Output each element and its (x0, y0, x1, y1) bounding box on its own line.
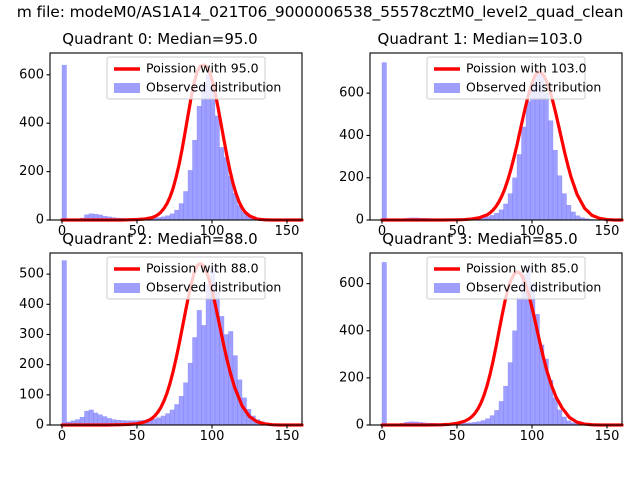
legend-label: Poission with 103.0 (466, 61, 587, 76)
subplot-quadrant-2: Quadrant 2: Median=88.0 0100200300400500… (0, 230, 320, 445)
svg-text:50: 50 (129, 429, 146, 444)
svg-text:400: 400 (19, 116, 44, 131)
legend: Poission with 85.0Observed distribution (427, 257, 601, 299)
svg-text:200: 200 (339, 370, 364, 385)
legend: Poission with 95.0Observed distribution (107, 57, 281, 99)
subplot-title-quadrant-1: Quadrant 1: Median=103.0 (378, 30, 583, 48)
legend: Poission with 103.0Observed distribution (427, 57, 601, 99)
plot-area-quadrant-1: 0200400600050100150Poission with 103.0Ob… (320, 30, 640, 240)
svg-text:600: 600 (339, 86, 364, 101)
svg-text:0: 0 (36, 213, 44, 228)
subplot-title-quadrant-3: Quadrant 3: Median=85.0 (382, 230, 577, 248)
axis-ticks: 0200400600050100150 (339, 276, 619, 444)
subplot-title-quadrant-0: Quadrant 0: Median=95.0 (62, 30, 257, 48)
legend-swatch-patch (434, 83, 460, 93)
legend-label: Poission with 88.0 (146, 261, 259, 276)
figure-suptitle: m file: modeM0/AS1A14_021T06_9000006538_… (17, 3, 624, 21)
plot-area-quadrant-0: 0200400600050100150Poission with 95.0Obs… (0, 30, 320, 240)
svg-text:200: 200 (339, 170, 364, 185)
svg-text:500: 500 (19, 267, 44, 282)
legend-label: Observed distribution (466, 80, 601, 95)
svg-text:100: 100 (19, 387, 44, 402)
svg-text:150: 150 (275, 429, 300, 444)
figure-canvas: m file: modeM0/AS1A14_021T06_9000006538_… (0, 0, 640, 480)
svg-text:400: 400 (339, 128, 364, 143)
legend: Poission with 88.0Observed distribution (107, 257, 281, 299)
svg-text:0: 0 (58, 429, 66, 444)
svg-text:400: 400 (19, 297, 44, 312)
subplot-quadrant-1: Quadrant 1: Median=103.0 020040060005010… (320, 30, 640, 240)
svg-text:100: 100 (520, 429, 545, 444)
subplot-quadrant-0: Quadrant 0: Median=95.0 0200400600050100… (0, 30, 320, 240)
legend-label: Observed distribution (146, 280, 281, 295)
svg-text:200: 200 (19, 357, 44, 372)
svg-text:150: 150 (595, 429, 620, 444)
legend-swatch-patch (114, 283, 140, 293)
svg-text:100: 100 (200, 429, 225, 444)
svg-text:300: 300 (19, 327, 44, 342)
svg-text:200: 200 (19, 164, 44, 179)
legend-label: Observed distribution (466, 280, 601, 295)
plot-area-quadrant-3: 0200400600050100150Poission with 85.0Obs… (320, 230, 640, 445)
legend-label: Poission with 95.0 (146, 61, 259, 76)
subplot-quadrant-3: Quadrant 3: Median=85.0 0200400600050100… (320, 230, 640, 445)
svg-text:600: 600 (339, 276, 364, 291)
svg-text:0: 0 (378, 429, 386, 444)
svg-text:0: 0 (356, 213, 364, 228)
svg-text:50: 50 (449, 429, 466, 444)
svg-text:400: 400 (339, 323, 364, 338)
subplot-title-quadrant-2: Quadrant 2: Median=88.0 (62, 230, 257, 248)
legend-swatch-patch (114, 83, 140, 93)
svg-text:0: 0 (36, 418, 44, 433)
legend-label: Poission with 85.0 (466, 261, 579, 276)
svg-text:0: 0 (356, 418, 364, 433)
legend-label: Observed distribution (146, 80, 281, 95)
svg-text:600: 600 (19, 67, 44, 82)
plot-area-quadrant-2: 0100200300400500050100150Poission with 8… (0, 230, 320, 445)
legend-swatch-patch (434, 283, 460, 293)
